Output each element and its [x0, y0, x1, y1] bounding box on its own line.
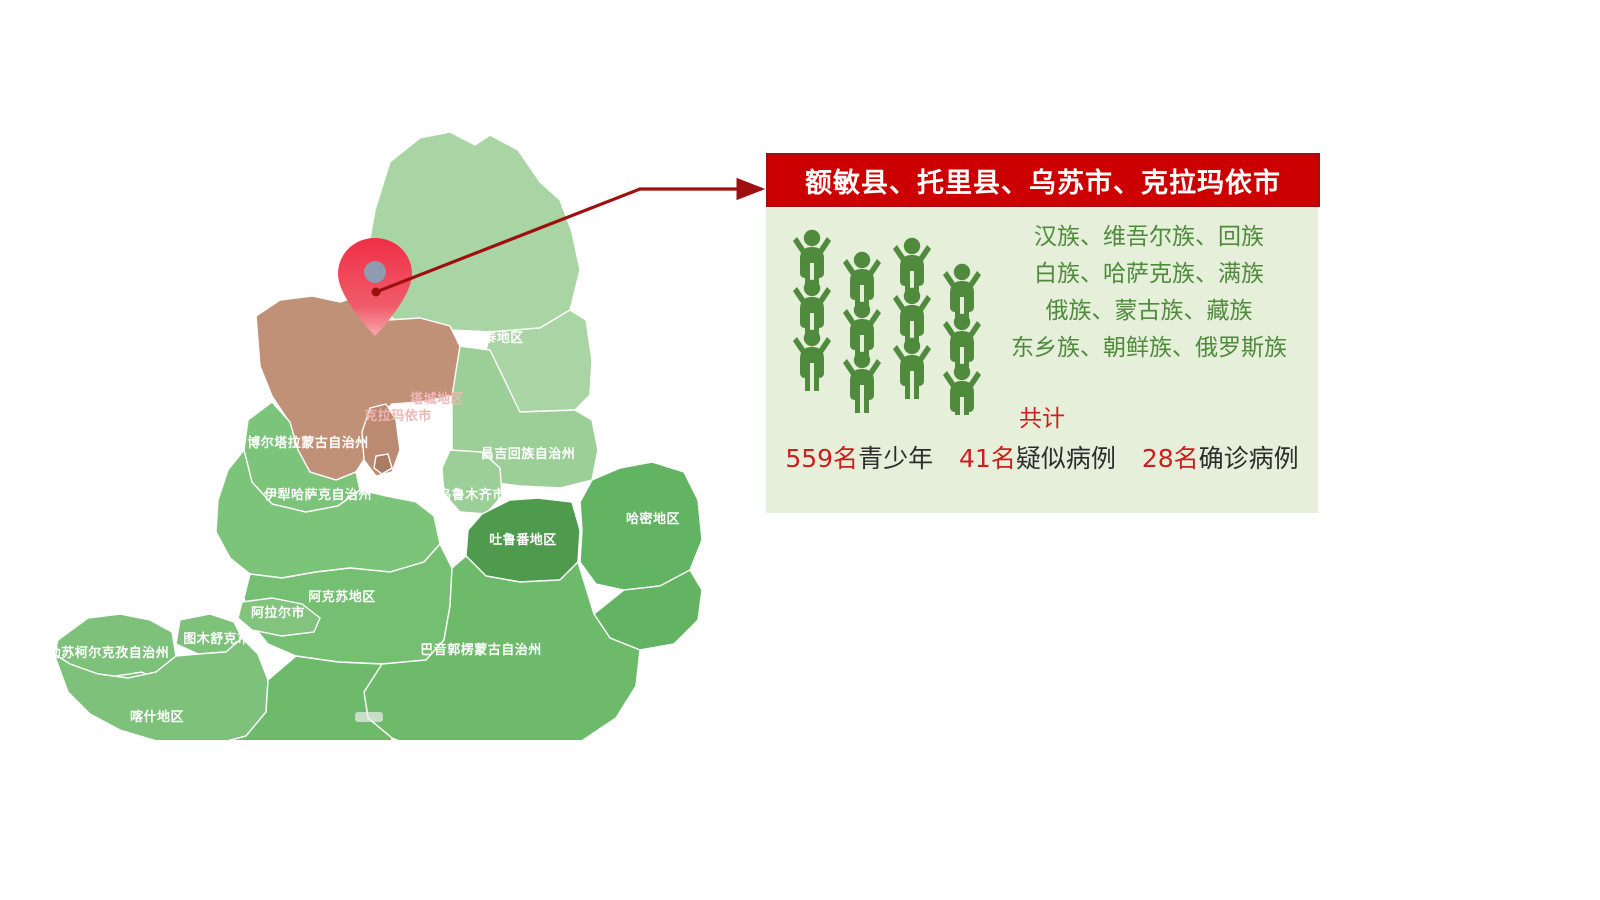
region-label-aksu: 阿克苏地区 — [308, 589, 376, 605]
stat-word: 青少年 — [858, 444, 933, 473]
region-label-ili: 伊犁哈萨克自治州 — [263, 487, 372, 503]
panel-body: 汉族、维吾尔族、回族 白族、哈萨克族、满族 俄族、蒙古族、藏族 东乡族、朝鲜族、… — [766, 207, 1318, 513]
region-label-urumqi: 乌鲁木齐市 — [438, 487, 506, 503]
panel-header: 额敏县、托里县、乌苏市、克拉玛依市 — [766, 153, 1320, 207]
people-icons-svg — [784, 225, 984, 415]
region-label-bortala: 博尔塔拉蒙古自治州 — [247, 435, 369, 451]
region-label-kizilsu: 克孜勒苏柯尔克孜自治州 — [21, 645, 170, 661]
total-label: 共计 — [766, 399, 1318, 433]
stat-youth: 559名青少年 — [785, 439, 933, 475]
xinjiang-map: 阿勒泰地区 塔城地区 克拉玛依市 昌吉回族自治州 乌鲁木齐市 博尔塔拉蒙古自治州… — [20, 120, 750, 740]
region-label-alar: 阿拉尔市 — [251, 605, 305, 621]
region-label-turpan: 吐鲁番地区 — [489, 532, 557, 548]
stat-confirmed: 28名确诊病例 — [1142, 439, 1299, 475]
screenshot-root: 阿勒泰地区 塔城地区 克拉玛依市 昌吉回族自治州 乌鲁木齐市 博尔塔拉蒙古自治州… — [0, 0, 1600, 900]
statistics-row: 559名青少年 41名疑似病例 28名确诊病例 — [766, 439, 1318, 475]
stat-number: 559名 — [785, 444, 858, 473]
ethnic-group-list: 汉族、维吾尔族、回族 白族、哈萨克族、满族 俄族、蒙古族、藏族 东乡族、朝鲜族、… — [984, 219, 1314, 367]
stat-word: 确诊病例 — [1199, 444, 1299, 473]
panel-header-title: 额敏县、托里县、乌苏市、克拉玛依市 — [805, 161, 1281, 200]
stat-word: 疑似病例 — [1016, 444, 1116, 473]
region-label-changji: 昌吉回族自治州 — [481, 446, 576, 462]
region-label-bayingolin: 巴音郭楞蒙古自治州 — [420, 642, 542, 658]
info-panel: 额敏县、托里县、乌苏市、克拉玛依市 — [766, 153, 1320, 513]
region-label-tumxuk: 图木舒克市 — [183, 631, 251, 647]
region-label-hami: 哈密地区 — [626, 511, 680, 527]
ethnic-line: 俄族、蒙古族、藏族 — [984, 293, 1314, 330]
map-svg: 阿勒泰地区 塔城地区 克拉玛依市 昌吉回族自治州 乌鲁木齐市 博尔塔拉蒙古自治州… — [20, 120, 750, 740]
ethnic-line: 白族、哈萨克族、满族 — [984, 256, 1314, 293]
region-label-altay: 阿勒泰地区 — [456, 330, 524, 346]
person-icon-group — [793, 230, 981, 415]
stat-suspected: 41名疑似病例 — [959, 439, 1116, 475]
region-label-tacheng: 塔城地区 — [410, 391, 464, 407]
ethnic-line: 汉族、维吾尔族、回族 — [984, 219, 1314, 256]
region-label-karamay: 克拉玛依市 — [364, 408, 432, 424]
people-pictogram — [784, 225, 984, 405]
faint-watermark — [355, 712, 383, 722]
stat-number: 41名 — [959, 444, 1016, 473]
ethnic-line: 东乡族、朝鲜族、俄罗斯族 — [984, 330, 1314, 367]
region-label-kashgar: 喀什地区 — [130, 709, 184, 725]
stat-number: 28名 — [1142, 444, 1199, 473]
